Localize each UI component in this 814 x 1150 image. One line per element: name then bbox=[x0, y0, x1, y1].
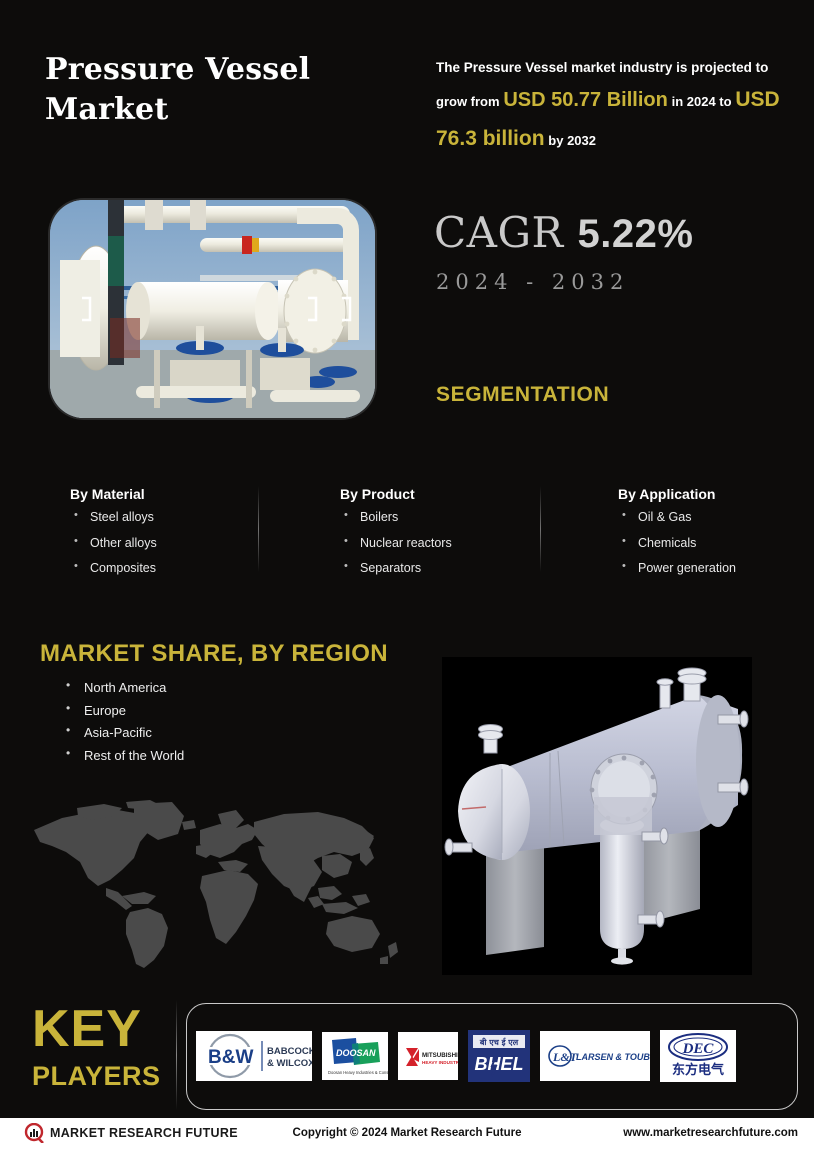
key-players-label-players: PLAYERS bbox=[32, 1063, 161, 1090]
pressure-vessel-photo bbox=[50, 200, 375, 418]
cagr-years: 2024 - 2032 bbox=[436, 270, 629, 294]
mitsubishi-icon: MITSUBISHI HEAVY INDUSTRIES bbox=[398, 1032, 458, 1080]
list-item: Asia-Pacific bbox=[58, 726, 184, 749]
cagr-value: 5.22% bbox=[578, 212, 694, 256]
segmentation-column-material: By Material Steel alloys Other alloys Co… bbox=[70, 486, 250, 588]
market-share-title: MARKET SHARE, BY REGION bbox=[40, 640, 388, 668]
list-item: Boilers bbox=[340, 511, 540, 537]
blurb-by-2032: by 2032 bbox=[548, 133, 596, 148]
dec-icon: DEC 东方电气 bbox=[660, 1030, 736, 1082]
cagr-block: CAGR 5.22% bbox=[434, 212, 693, 254]
blurb-line1: The Pressure Vessel market industry is p… bbox=[436, 60, 768, 75]
market-projection-blurb: The Pressure Vessel market industry is p… bbox=[436, 56, 786, 159]
svg-text:& WILCOX: & WILCOX bbox=[267, 1058, 312, 1069]
list-item: Steel alloys bbox=[70, 511, 250, 537]
logo-bhel[interactable]: बी एच ई एल BHEL bbox=[468, 1030, 530, 1082]
footer-website[interactable]: www.marketresearchfuture.com bbox=[623, 1127, 798, 1139]
segmentation-divider-1 bbox=[258, 486, 259, 572]
segmentation-section: By Material Steel alloys Other alloys Co… bbox=[0, 486, 814, 590]
segment-list: Boilers Nuclear reactors Separators bbox=[340, 511, 540, 588]
svg-text:LARSEN & TOUBRO: LARSEN & TOUBRO bbox=[576, 1052, 650, 1062]
svg-text:बी एच ई एल: बी एच ई एल bbox=[479, 1037, 519, 1047]
segmentation-divider-2 bbox=[540, 486, 541, 572]
blurb-grow-from: grow from bbox=[436, 94, 500, 109]
larsen-toubro-icon: L&T LARSEN & TOUBRO bbox=[540, 1031, 650, 1081]
segment-heading: By Material bbox=[70, 486, 250, 502]
segment-list: Steel alloys Other alloys Composites bbox=[70, 511, 250, 588]
segment-heading: By Application bbox=[618, 486, 808, 502]
list-item: Composites bbox=[70, 562, 250, 588]
svg-text:BHEL: BHEL bbox=[475, 1054, 524, 1074]
page-title: Pressure Vessel Market bbox=[45, 50, 405, 129]
pressure-vessel-photo-art bbox=[50, 200, 375, 418]
key-players-label-key: KEY bbox=[32, 1003, 142, 1055]
segment-list: Oil & Gas Chemicals Power generation bbox=[618, 511, 808, 588]
segmentation-column-product: By Product Boilers Nuclear reactors Sepa… bbox=[340, 486, 540, 588]
segmentation-title: SEGMENTATION bbox=[436, 383, 609, 407]
market-share-region-list: North America Europe Asia-Pacific Rest o… bbox=[58, 681, 184, 771]
list-item: Nuclear reactors bbox=[340, 537, 540, 563]
list-item: Other alloys bbox=[70, 537, 250, 563]
svg-text:DOOSAN: DOOSAN bbox=[336, 1048, 376, 1058]
svg-text:B&W: B&W bbox=[208, 1047, 253, 1068]
value-2024: USD 50.77 Billion bbox=[503, 89, 668, 111]
list-item: North America bbox=[58, 681, 184, 704]
svg-text:MITSUBISHI: MITSUBISHI bbox=[422, 1052, 458, 1059]
logo-mitsubishi[interactable]: MITSUBISHI HEAVY INDUSTRIES bbox=[398, 1032, 458, 1080]
world-map-art bbox=[22, 800, 422, 970]
svg-text:DEC: DEC bbox=[682, 1041, 715, 1057]
segment-heading: By Product bbox=[340, 486, 540, 502]
bhel-icon: बी एच ई एल BHEL bbox=[468, 1030, 530, 1082]
pressure-vessel-3d-render bbox=[442, 657, 752, 975]
doosan-icon: DOOSAN Doosan Heavy Industries & Constru… bbox=[322, 1032, 388, 1080]
svg-text:L&T: L&T bbox=[552, 1050, 578, 1064]
key-players-logo-strip: B&W BABCOCK & WILCOX DOOSAN Doosan Heavy… bbox=[196, 1030, 790, 1082]
svg-text:Doosan Heavy Industries & Cons: Doosan Heavy Industries & Construction bbox=[328, 1070, 388, 1075]
list-item: Chemicals bbox=[618, 537, 808, 563]
blurb-in-2024-to: in 2024 to bbox=[672, 94, 732, 109]
list-item: Rest of the World bbox=[58, 749, 184, 772]
infographic-page: Pressure Vessel Market The Pressure Vess… bbox=[0, 0, 814, 1150]
cagr-label: CAGR bbox=[434, 208, 564, 257]
pressure-vessel-3d-art bbox=[442, 657, 752, 975]
list-item: Separators bbox=[340, 562, 540, 588]
logo-babcock-wilcox[interactable]: B&W BABCOCK & WILCOX bbox=[196, 1031, 312, 1081]
world-map bbox=[22, 800, 422, 970]
svg-text:BABCOCK: BABCOCK bbox=[267, 1046, 312, 1057]
segmentation-column-application: By Application Oil & Gas Chemicals Power… bbox=[618, 486, 808, 588]
svg-text:东方电气: 东方电气 bbox=[672, 1062, 724, 1078]
list-item: Power generation bbox=[618, 562, 808, 588]
svg-text:HEAVY INDUSTRIES: HEAVY INDUSTRIES bbox=[422, 1060, 458, 1065]
logo-doosan[interactable]: DOOSAN Doosan Heavy Industries & Constru… bbox=[322, 1032, 388, 1080]
key-players-divider bbox=[176, 1000, 177, 1110]
logo-larsen-toubro[interactable]: L&T LARSEN & TOUBRO bbox=[540, 1031, 650, 1081]
footer: MARKET RESEARCH FUTURE Copyright © 2024 … bbox=[0, 1118, 814, 1150]
list-item: Europe bbox=[58, 704, 184, 727]
list-item: Oil & Gas bbox=[618, 511, 808, 537]
logo-dec[interactable]: DEC 东方电气 bbox=[660, 1030, 736, 1082]
babcock-wilcox-icon: B&W BABCOCK & WILCOX bbox=[196, 1031, 312, 1081]
